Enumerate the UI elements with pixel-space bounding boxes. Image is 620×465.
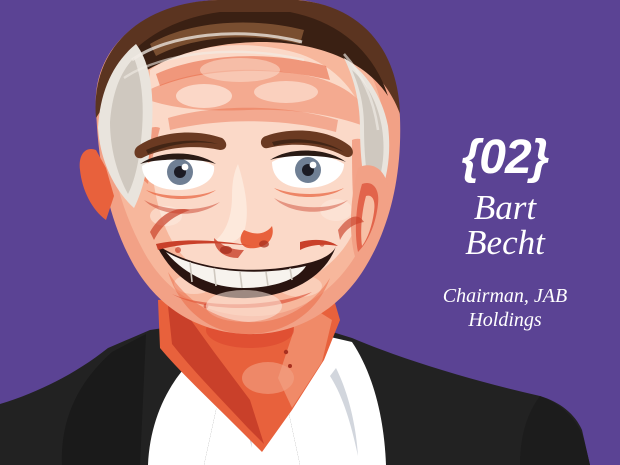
profile-card: {02} Bart Becht Chairman, JAB Holdings [0,0,620,465]
person-title: Chairman, JAB Holdings [400,284,610,332]
rank-number: {02} [400,132,610,184]
person-title-line2: Holdings [468,309,541,331]
person-name: Bart Becht [400,190,610,260]
person-name-line1: Bart [474,188,536,227]
person-name-line2: Becht [465,223,545,262]
profile-text-block: {02} Bart Becht Chairman, JAB Holdings [400,132,610,332]
person-title-line1: Chairman, JAB [443,285,567,307]
